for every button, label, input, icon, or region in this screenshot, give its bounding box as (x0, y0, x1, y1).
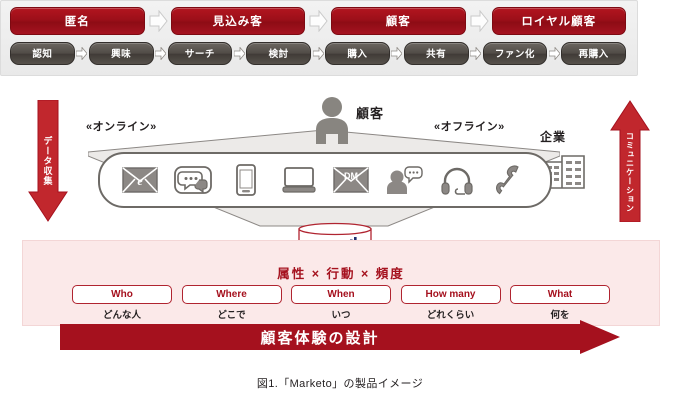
step-label: 興味 (111, 46, 131, 60)
five-w-item-how-many[interactable]: How many どれくらい (402, 285, 500, 321)
chat-icon[interactable] (173, 162, 213, 198)
five-w-box: What (510, 285, 610, 304)
five-w-item-when[interactable]: When いつ (292, 285, 390, 321)
journey-step-awareness[interactable]: 認知 (10, 42, 75, 65)
five-w-item-who[interactable]: Who どんな人 (73, 285, 171, 321)
step-label: 認知 (32, 46, 52, 60)
channel-bar: e (98, 152, 552, 208)
channel-icon-list: e (100, 154, 550, 206)
step-label: 検討 (269, 46, 289, 60)
five-w-box: Where (182, 285, 282, 304)
five-w-box: How many (401, 285, 501, 304)
five-w-item-where[interactable]: Where どこで (183, 285, 281, 321)
cx-design-arrow: 顧客体験の設計 (60, 320, 620, 354)
figure-caption: 図1.「Marketo」の製品イメージ (0, 375, 680, 391)
five-w-label-ja: どれくらい (427, 307, 475, 321)
journey-step-share[interactable]: 共有 (404, 42, 469, 65)
five-w-box: When (291, 285, 391, 304)
journey-step-fan[interactable]: ファン化 (483, 42, 548, 65)
five-w-label-en: How many (425, 289, 475, 300)
five-w-label-en: Who (111, 289, 133, 300)
persona-stage-anonymous[interactable]: 匿名 (10, 7, 145, 35)
persona-stage-loyal-customer[interactable]: ロイヤル顧客 (492, 7, 627, 35)
step-label: サーチ (185, 46, 215, 60)
person-icon (312, 96, 352, 144)
online-label: «オンライン» (86, 118, 157, 134)
journey-step-consideration[interactable]: 検討 (246, 42, 311, 65)
arrow-right-icon (154, 47, 168, 60)
company-label: 企業 (540, 128, 566, 145)
arrow-right-icon (75, 47, 89, 60)
persona-label: 匿名 (65, 13, 90, 29)
five-w-box: Who (72, 285, 172, 304)
chevron-right-outline-icon (466, 10, 492, 32)
five-w-label-ja: いつ (331, 307, 350, 321)
five-w-label-ja: どこで (217, 307, 245, 321)
arrow-right-icon (232, 47, 246, 60)
cx-design-label: 顧客体験の設計 (60, 320, 580, 354)
step-label: 共有 (426, 46, 446, 60)
arrow-right-icon (390, 47, 404, 60)
five-w-item-what[interactable]: What 何を (511, 285, 609, 321)
data-collection-label: データ収集 (28, 122, 68, 200)
smartphone-icon[interactable] (226, 162, 266, 198)
data-collection-arrow: データ収集 (28, 100, 68, 222)
person-speech-icon[interactable] (384, 162, 424, 198)
step-label: ファン化 (495, 46, 535, 60)
journey-step-purchase[interactable]: 購入 (325, 42, 390, 65)
persona-label: ロイヤル顧客 (521, 13, 596, 29)
chevron-right-outline-icon (145, 10, 171, 32)
five-w-label-en: When (327, 289, 354, 300)
laptop-icon[interactable] (279, 162, 319, 198)
communication-arrow: コミュニケーション (610, 100, 650, 222)
five-w-label-ja: 何を (550, 307, 569, 321)
customer-journey-panel: 匿名 見込み客 顧客 ロイヤル顧客 認知 興味 (0, 0, 638, 76)
email-icon[interactable]: e (120, 162, 160, 198)
step-label: 再購入 (579, 46, 609, 60)
arrow-right-icon (547, 47, 561, 60)
arrow-right-icon (469, 47, 483, 60)
journey-step-search[interactable]: サーチ (168, 42, 233, 65)
journey-step-repurchase[interactable]: 再購入 (561, 42, 626, 65)
svg-text:e: e (138, 174, 144, 188)
offline-label: «オフライン» (434, 118, 505, 134)
attributes-label: 属性 × 行動 × 頻度 (23, 263, 659, 282)
five-w-row: Who どんな人 Where どこで When いつ How many どれくら… (73, 285, 609, 321)
persona-label: 顧客 (386, 13, 411, 29)
chevron-right-outline-icon (305, 10, 331, 32)
five-w-label-en: What (548, 289, 572, 300)
direct-mail-icon[interactable]: DM (331, 162, 371, 198)
telephone-icon[interactable] (490, 162, 530, 198)
persona-stage-prospect[interactable]: 見込み客 (171, 7, 306, 35)
communication-label: コミュニケーション (610, 130, 650, 214)
journey-step-interest[interactable]: 興味 (89, 42, 154, 65)
five-w-label-ja: どんな人 (103, 307, 141, 321)
persona-stage-row: 匿名 見込み客 顧客 ロイヤル顧客 (10, 7, 626, 35)
customer-label: 顧客 (356, 103, 384, 122)
step-label: 購入 (347, 46, 367, 60)
persona-label: 見込み客 (213, 13, 263, 29)
five-w-label-en: Where (216, 289, 247, 300)
journey-step-row: 認知 興味 サーチ 検討 購入 共有 (10, 41, 626, 65)
experience-design-panel: 属性 × 行動 × 頻度 Who どんな人 Where どこで When いつ … (22, 240, 660, 326)
arrow-right-icon (311, 47, 325, 60)
svg-text:DM: DM (344, 171, 358, 181)
persona-stage-customer[interactable]: 顧客 (331, 7, 466, 35)
headset-icon[interactable] (437, 162, 477, 198)
